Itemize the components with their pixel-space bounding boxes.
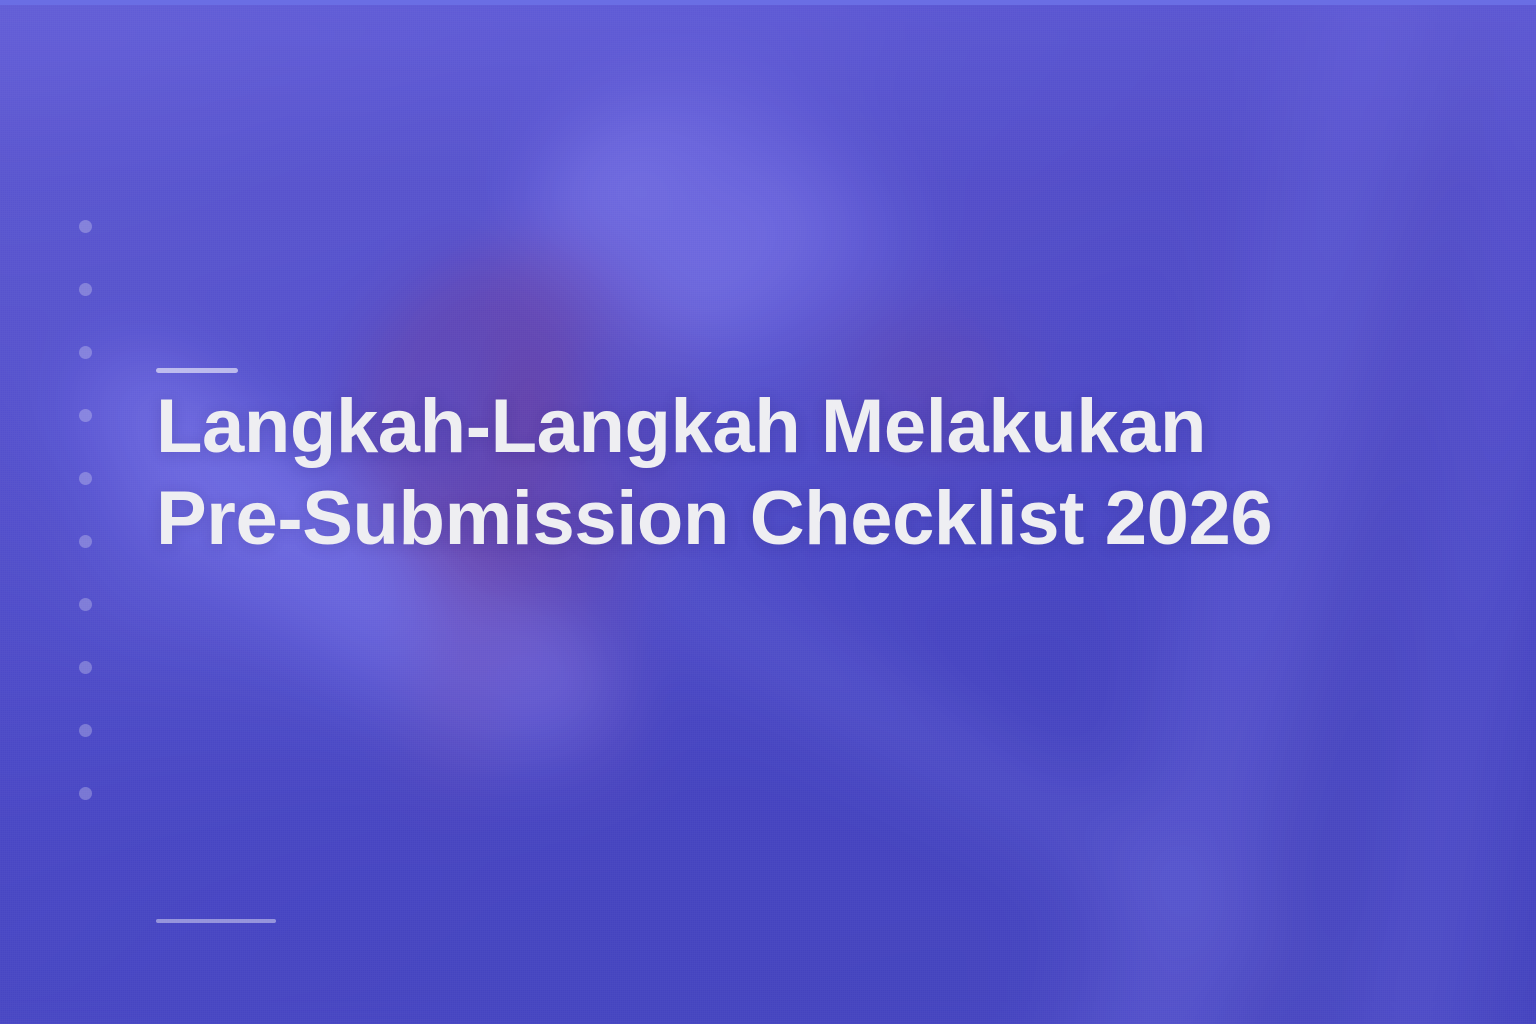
rail-dot (79, 409, 92, 422)
title-accent-rule (156, 368, 238, 373)
dot-rail (79, 220, 92, 800)
rail-dot (79, 598, 92, 611)
rail-dot (79, 283, 92, 296)
rail-dot (79, 346, 92, 359)
slide-content: Langkah-Langkah Melakukan Pre-Submission… (0, 0, 1536, 1024)
rail-dot (79, 787, 92, 800)
title-slide: Langkah-Langkah Melakukan Pre-Submission… (0, 0, 1536, 1024)
rail-dot (79, 724, 92, 737)
page-title: Langkah-Langkah Melakukan Pre-Submission… (156, 381, 1436, 565)
page-title-line-1: Langkah-Langkah Melakukan (156, 381, 1436, 473)
rail-dot (79, 220, 92, 233)
rail-dot (79, 661, 92, 674)
rail-dot (79, 472, 92, 485)
page-title-line-2: Pre-Submission Checklist 2026 (156, 473, 1436, 565)
rail-dot (79, 535, 92, 548)
footer-accent-rule (156, 919, 276, 923)
